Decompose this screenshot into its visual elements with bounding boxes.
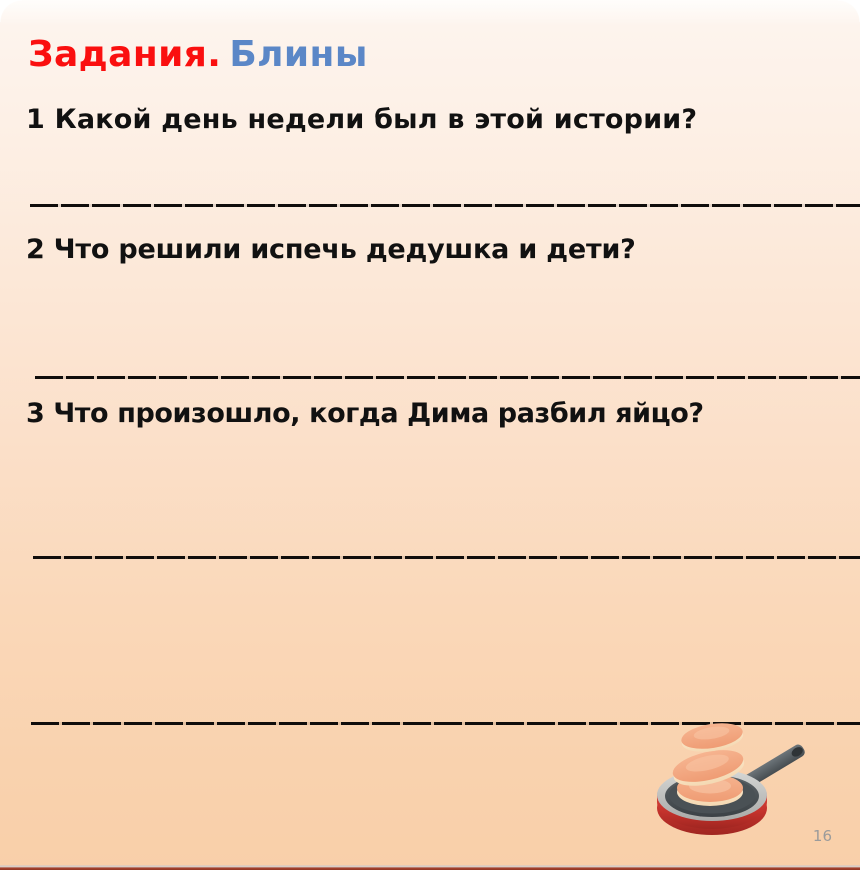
slide-corner-top-left [0, 0, 22, 22]
slide-corner-top-right [838, 0, 860, 22]
slide-title-primary: Задания. [28, 34, 221, 75]
question-1-text: 1 Какой день недели был в этой истории? [26, 104, 697, 135]
answer-line-3[interactable] [33, 556, 860, 559]
slide-bottom-border [0, 865, 860, 870]
slide-title: Задания.Блины [28, 34, 368, 75]
slide-canvas: Задания.Блины 1 Какой день недели был в … [0, 0, 860, 870]
frying-pan-icon [650, 722, 810, 848]
question-2-text: 2 Что решили испечь дедушка и дети? [26, 234, 636, 265]
page-number: 16 [813, 827, 832, 845]
question-3-text: 3 Что произошло, когда Дима разбил яйцо? [26, 398, 704, 429]
slide-title-secondary: Блины [229, 34, 367, 75]
answer-line-2[interactable] [35, 376, 860, 379]
answer-line-1[interactable] [30, 204, 860, 207]
